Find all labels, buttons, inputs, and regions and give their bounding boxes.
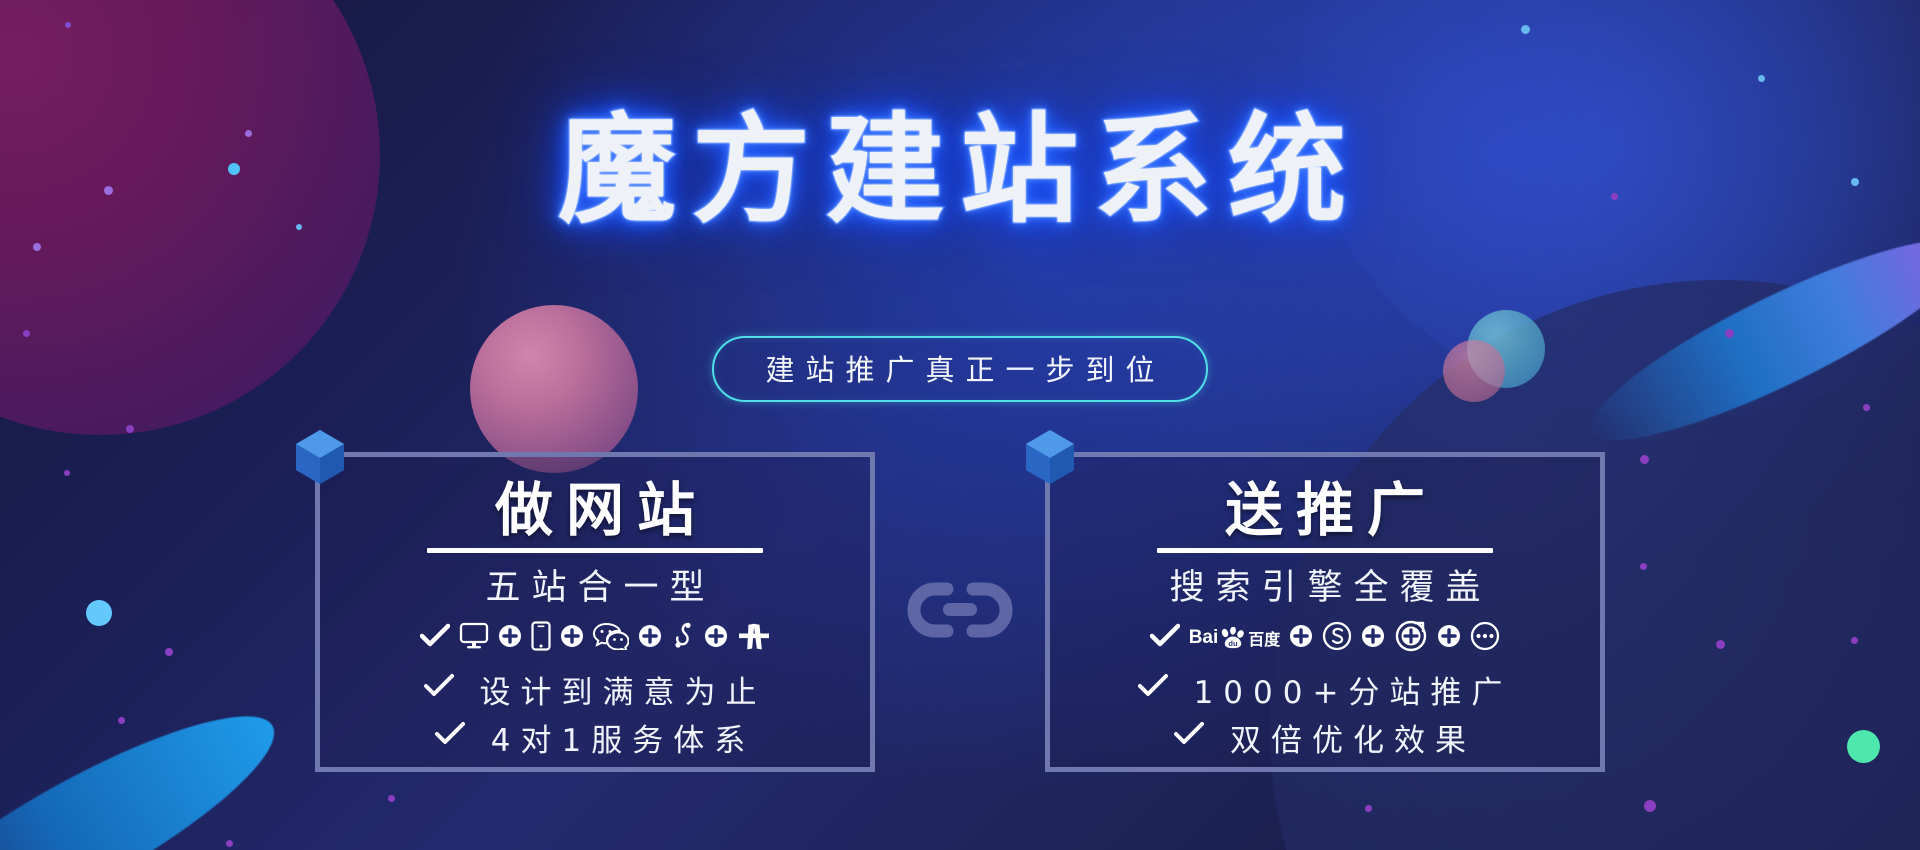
- star-dot: [226, 840, 233, 847]
- mobile-phone-icon: [531, 621, 551, 656]
- card-bullet-label: 4对1服务体系: [481, 715, 755, 760]
- title-underline: [427, 548, 763, 553]
- card-bullet-label: 双倍优化效果: [1220, 715, 1476, 760]
- mini-program-icon: [671, 621, 695, 656]
- wechat-icon: [593, 622, 629, 655]
- plus-circle-icon: [638, 624, 662, 653]
- check-icon: [1138, 671, 1168, 707]
- baidu-logo-du: du: [1229, 639, 1239, 648]
- check-icon: [435, 719, 465, 755]
- star-dot: [1365, 805, 1372, 812]
- plus-circle-icon: [1361, 624, 1385, 653]
- chain-link-icon: [905, 577, 1015, 648]
- banner-subtitle: 建站推广真正一步到位: [712, 336, 1207, 402]
- 360-search-icon: [1394, 619, 1428, 658]
- plus-circle-icon: [1289, 624, 1313, 653]
- check-icon: [1174, 719, 1204, 755]
- star-dot: [1758, 75, 1765, 82]
- baidu-logo-icon: Bai du 百度: [1189, 626, 1281, 650]
- star-dot: [388, 795, 395, 802]
- banner-title: 魔方建站系统: [558, 104, 1362, 236]
- card-bullet: 双倍优化效果: [1174, 715, 1476, 759]
- search-engine-icon-row: Bai du 百度: [1150, 617, 1501, 659]
- more-ellipsis-icon: [1470, 621, 1500, 656]
- card-bullet-label: 1000+分站推广: [1184, 667, 1513, 712]
- promo-banner: 魔方建站系统 建站推广真正一步到位 做网站 五站合一型: [0, 0, 1920, 850]
- star-dot: [65, 22, 71, 28]
- gem-cube-icon: [1019, 426, 1081, 488]
- card-bullet: 设计到满意为止: [424, 667, 767, 711]
- star-dot: [126, 425, 134, 433]
- title-underline: [1157, 548, 1493, 553]
- check-icon: [1150, 623, 1180, 654]
- card-bullet-label: 设计到满意为止: [470, 667, 767, 712]
- check-icon: [424, 671, 454, 707]
- card-free-promotion[interactable]: 送推广 搜索引擎全覆盖 Bai du 百度: [1045, 452, 1605, 772]
- card-bullet: 1000+分站推广: [1138, 667, 1513, 711]
- feature-cards: 做网站 五站合一型: [0, 452, 1920, 772]
- card-make-website[interactable]: 做网站 五站合一型: [315, 452, 875, 772]
- subtitle-block: 建站推广真正一步到位: [0, 336, 1920, 402]
- plus-circle-icon: [498, 624, 522, 653]
- star-dot: [1521, 25, 1530, 34]
- star-dot: [1644, 800, 1656, 812]
- sogou-icon: [1322, 621, 1352, 656]
- card-bullet: 4对1服务体系: [435, 715, 755, 759]
- baidu-logo-cn: 百度: [1248, 626, 1280, 650]
- plus-circle-icon: [704, 624, 728, 653]
- card-subtitle: 搜索引擎全覆盖: [1158, 559, 1491, 610]
- desktop-monitor-icon: [459, 622, 489, 655]
- platform-icon-row: [420, 617, 771, 659]
- title-block: 魔方建站系统: [0, 104, 1920, 236]
- check-icon: [420, 623, 450, 654]
- plus-circle-icon: [1437, 624, 1461, 653]
- card-title: 做网站: [482, 481, 708, 540]
- baidu-logo-bai: Bai: [1189, 627, 1219, 649]
- star-dot: [1863, 404, 1870, 411]
- plus-circle-icon: [560, 624, 584, 653]
- cards-link-connector: [875, 452, 1045, 772]
- star-dot: [33, 243, 41, 251]
- card-title: 送推广: [1212, 481, 1438, 540]
- gem-cube-icon: [289, 426, 351, 488]
- card-subtitle: 五站合一型: [474, 559, 715, 610]
- app-store-icon: [737, 621, 771, 656]
